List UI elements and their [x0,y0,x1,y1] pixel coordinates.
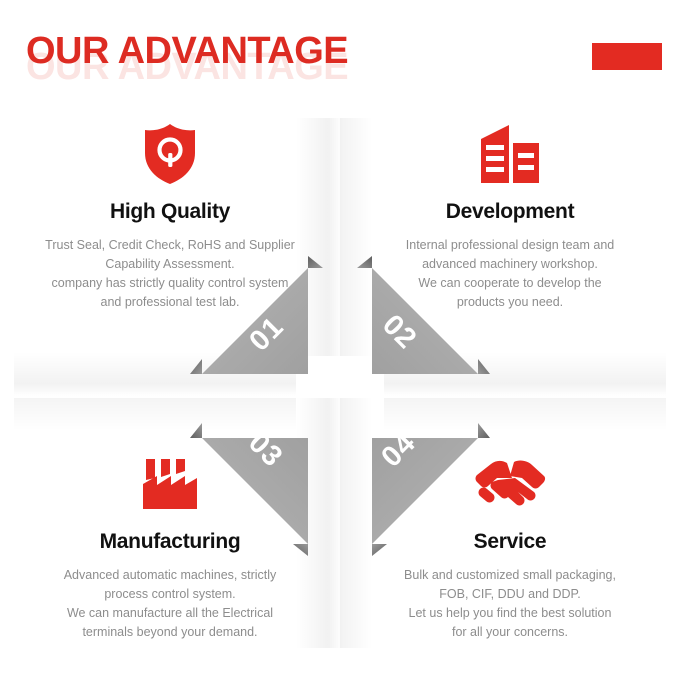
desc-line: for all your concerns. [362,623,658,642]
desc-line: Advanced automatic machines, strictly [22,566,318,585]
ribbon-04[interactable]: 04 [340,406,490,556]
page-header: OUR ADVANTAGE OUR ADVANTAGE [0,0,680,105]
quadrant-description: Advanced automatic machines, strictly pr… [0,566,340,642]
desc-line: We can manufacture all the Electrical [22,604,318,623]
desc-line: Trust Seal, Credit Check, RoHS and Suppl… [22,236,318,255]
office-buildings-icon [340,118,680,190]
page-title-text: OUR ADVANTAGE [26,30,348,73]
quadrant-title: High Quality [0,200,340,224]
page-title: OUR ADVANTAGE OUR ADVANTAGE [26,30,446,90]
desc-line: Let us help you find the best solution [362,604,658,623]
header-accent-badge [592,43,662,70]
desc-line: Bulk and customized small packaging, [362,566,658,585]
desc-line: FOB, CIF, DDU and DDP. [362,585,658,604]
shield-quality-icon [0,118,340,190]
desc-line: Internal professional design team and [362,236,658,255]
advantage-infographic: OUR ADVANTAGE OUR ADVANTAGE High Quality… [0,0,680,691]
desc-line: terminals beyond your demand. [22,623,318,642]
quadrant-description: Bulk and customized small packaging, FOB… [340,566,680,642]
quadrant-title: Development [340,200,680,224]
ribbon-01[interactable]: 01 [190,256,340,406]
ribbon-02[interactable]: 02 [340,256,490,406]
desc-line: process control system. [22,585,318,604]
ribbon-03[interactable]: 03 [190,406,340,556]
